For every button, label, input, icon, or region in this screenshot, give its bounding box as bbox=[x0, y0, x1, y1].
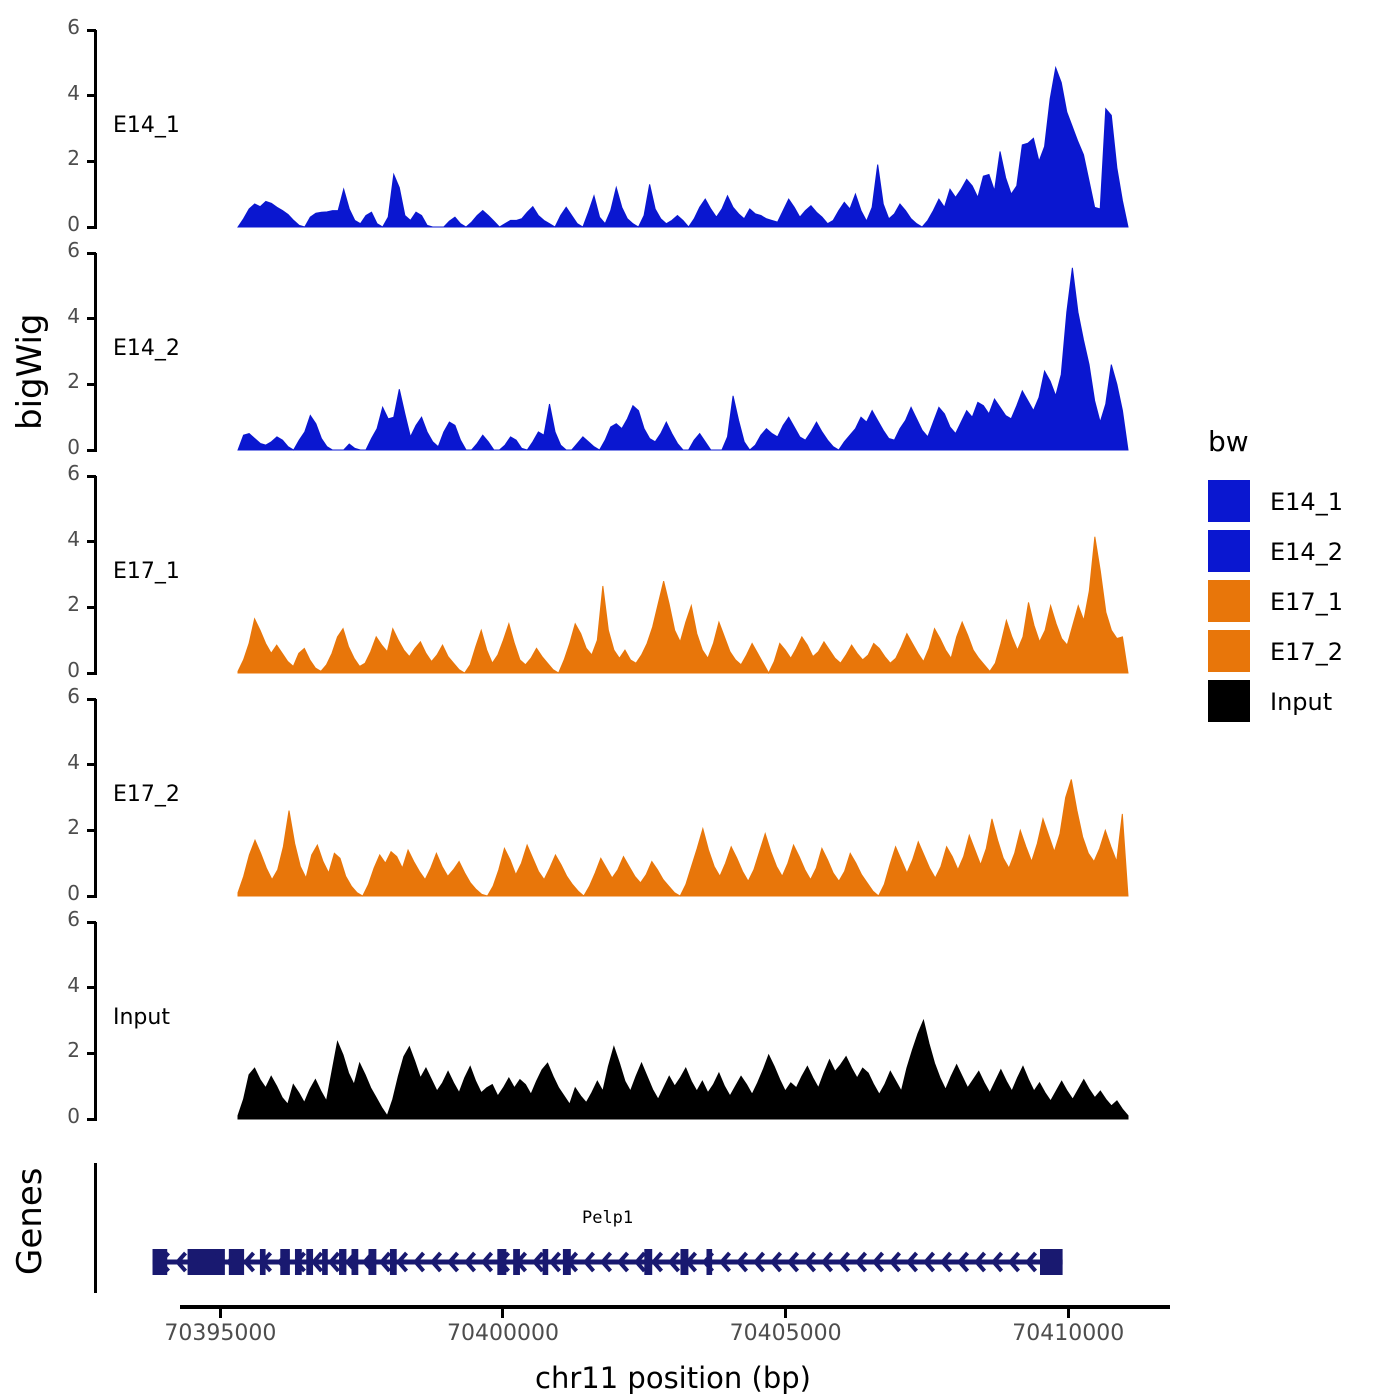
legend-label-e17_1: E17_1 bbox=[1270, 588, 1343, 616]
y-tick-label: 4 bbox=[38, 81, 80, 105]
y-tick-label: 0 bbox=[38, 658, 80, 682]
gene-model-pelp1[interactable] bbox=[96, 1239, 1190, 1285]
legend-title: bw bbox=[1208, 425, 1249, 458]
signal-area-e14_2 bbox=[96, 253, 1170, 453]
legend-label-e14_1: E14_1 bbox=[1270, 488, 1343, 516]
x-axis-title: chr11 position (bp) bbox=[535, 1361, 811, 1395]
y-tick-label: 2 bbox=[38, 1038, 80, 1062]
legend-label-e14_2: E14_2 bbox=[1270, 538, 1343, 566]
y-tick-label: 2 bbox=[38, 592, 80, 616]
y-tick-label: 4 bbox=[38, 973, 80, 997]
x-tick-mark bbox=[219, 1309, 222, 1318]
y-tick-label: 6 bbox=[38, 907, 80, 931]
y-tick-label: 2 bbox=[38, 146, 80, 170]
legend-swatch-e14_1[interactable] bbox=[1208, 480, 1250, 522]
y-tick-label: 4 bbox=[38, 304, 80, 328]
signal-area-input bbox=[96, 922, 1170, 1122]
signal-area-e14_1 bbox=[96, 30, 1170, 230]
y-tick-label: 6 bbox=[38, 461, 80, 485]
y-tick-label: 0 bbox=[38, 435, 80, 459]
legend-label-input: Input bbox=[1270, 688, 1332, 716]
x-axis-line bbox=[180, 1305, 1170, 1309]
y-tick-label: 4 bbox=[38, 527, 80, 551]
x-tick-mark bbox=[1067, 1309, 1070, 1318]
y-tick-label: 6 bbox=[38, 684, 80, 708]
y-tick-label: 0 bbox=[38, 1104, 80, 1128]
y-tick-label: 6 bbox=[38, 238, 80, 262]
x-tick-label: 70405000 bbox=[730, 1321, 842, 1346]
legend-swatch-e17_2[interactable] bbox=[1208, 630, 1250, 672]
genome-browser-figure: bigWig Genes E14_10246E14_20246E17_10246… bbox=[0, 0, 1400, 1400]
signal-area-e17_1 bbox=[96, 476, 1170, 676]
x-tick-label: 70410000 bbox=[1012, 1321, 1124, 1346]
y-tick-label: 4 bbox=[38, 750, 80, 774]
x-tick-mark bbox=[784, 1309, 787, 1318]
y-tick-label: 0 bbox=[38, 881, 80, 905]
x-tick-label: 70400000 bbox=[447, 1321, 559, 1346]
legend-label-e17_2: E17_2 bbox=[1270, 638, 1343, 666]
x-tick-label: 70395000 bbox=[164, 1321, 276, 1346]
gene-name-label: Pelp1 bbox=[582, 1208, 633, 1228]
x-tick-mark bbox=[501, 1309, 504, 1318]
legend-swatch-e17_1[interactable] bbox=[1208, 580, 1250, 622]
y-tick-label: 2 bbox=[38, 369, 80, 393]
genes-axis-title: Genes bbox=[10, 1168, 50, 1275]
legend-swatch-e14_2[interactable] bbox=[1208, 530, 1250, 572]
legend-swatch-input[interactable] bbox=[1208, 680, 1250, 722]
y-tick-label: 0 bbox=[38, 212, 80, 236]
y-tick-label: 6 bbox=[38, 15, 80, 39]
y-tick-label: 2 bbox=[38, 815, 80, 839]
signal-area-e17_2 bbox=[96, 699, 1170, 899]
